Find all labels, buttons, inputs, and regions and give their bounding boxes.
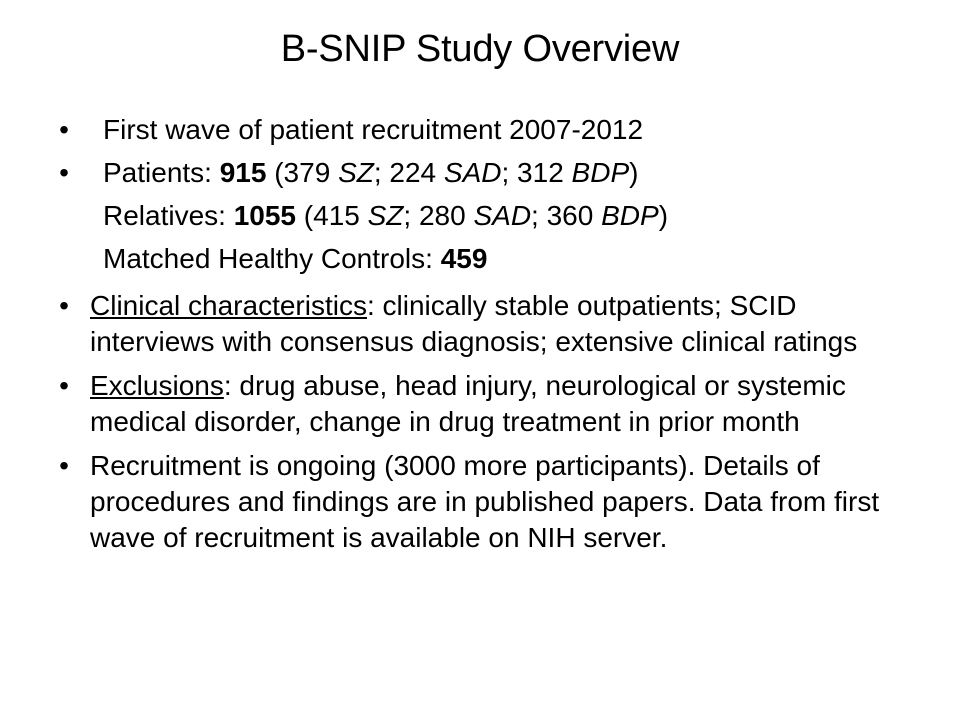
primary-line-text: Relatives: 1055 (415 SZ; 280 SAD; 360 BD…	[48, 194, 928, 237]
text-run-italic: SAD	[473, 200, 531, 231]
text-run-italic: BDP	[572, 157, 630, 188]
detail-line-text: Clinical characteristics: clinically sta…	[48, 288, 928, 360]
text-run-normal: ; 224	[374, 157, 444, 188]
detail-line: •Exclusions: drug abuse, head injury, ne…	[48, 368, 928, 440]
text-run-italic: SAD	[444, 157, 502, 188]
primary-line: •First wave of patient recruitment 2007-…	[48, 108, 928, 151]
text-run-normal: (415	[296, 200, 368, 231]
detail-line-text: Exclusions: drug abuse, head injury, neu…	[48, 368, 928, 440]
text-run-normal: ; 360	[531, 200, 601, 231]
bullet-marker-icon: •	[57, 151, 71, 194]
primary-line: Matched Healthy Controls: 459	[48, 237, 928, 280]
text-run-bold: 459	[441, 243, 488, 274]
text-run-underline: Exclusions	[90, 370, 224, 401]
text-run-bold: 915	[220, 157, 267, 188]
slide: B-SNIP Study Overview •First wave of pat…	[0, 0, 960, 720]
text-run-normal: Matched Healthy Controls:	[103, 243, 441, 274]
text-run-normal: First wave of patient recruitment 2007-2…	[103, 114, 643, 145]
text-run-normal: )	[629, 157, 638, 188]
bullet-group-primary: •First wave of patient recruitment 2007-…	[48, 108, 928, 280]
bullet-marker-icon: •	[57, 288, 71, 324]
text-run-normal: ; 312	[501, 157, 571, 188]
primary-line: Relatives: 1055 (415 SZ; 280 SAD; 360 BD…	[48, 194, 928, 237]
text-run-italic: BDP	[601, 200, 659, 231]
text-run-normal: Relatives:	[103, 200, 234, 231]
bullet-marker-icon: •	[57, 108, 71, 151]
primary-line-text: Matched Healthy Controls: 459	[48, 237, 928, 280]
detail-line: •Recruitment is ongoing (3000 more parti…	[48, 448, 928, 556]
bullet-group-detail: •Clinical characteristics: clinically st…	[48, 288, 928, 556]
page-title: B-SNIP Study Overview	[0, 26, 960, 72]
text-run-italic: SZ	[368, 200, 404, 231]
text-run-normal: (379	[266, 157, 338, 188]
text-run-italic: SZ	[338, 157, 374, 188]
detail-line-text: Recruitment is ongoing (3000 more partic…	[48, 448, 928, 556]
text-run-underline: Clinical characteristics	[90, 290, 367, 321]
bullet-marker-icon: •	[57, 368, 71, 404]
primary-line: •Patients: 915 (379 SZ; 224 SAD; 312 BDP…	[48, 151, 928, 194]
text-run-normal: ; 280	[403, 200, 473, 231]
detail-line: •Clinical characteristics: clinically st…	[48, 288, 928, 360]
primary-line-text: First wave of patient recruitment 2007-2…	[48, 108, 928, 151]
bullet-marker-icon: •	[57, 448, 71, 484]
text-run-bold: 1055	[234, 200, 296, 231]
text-run-normal: Recruitment is ongoing (3000 more partic…	[90, 450, 879, 553]
text-run-normal: )	[659, 200, 668, 231]
slide-body: •First wave of patient recruitment 2007-…	[48, 108, 928, 556]
primary-line-text: Patients: 915 (379 SZ; 224 SAD; 312 BDP)	[48, 151, 928, 194]
text-run-normal: Patients:	[103, 157, 220, 188]
